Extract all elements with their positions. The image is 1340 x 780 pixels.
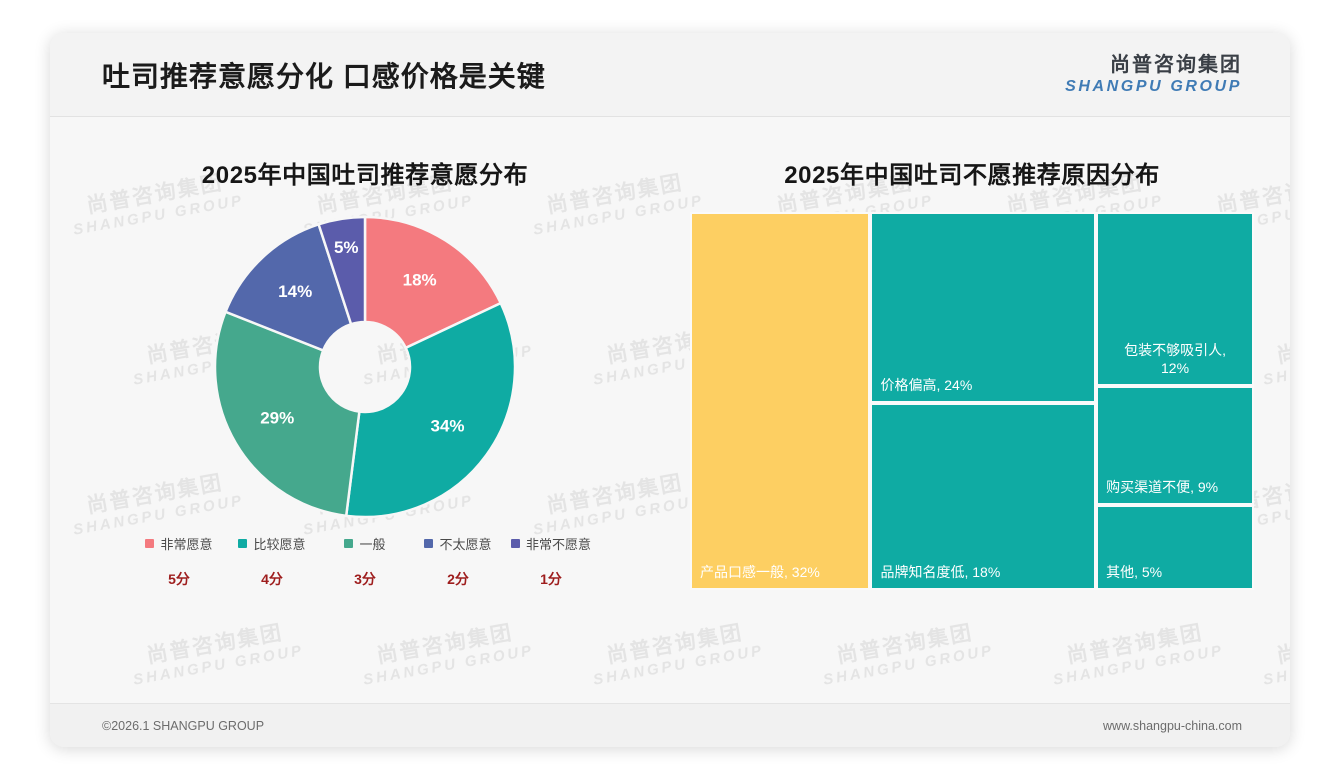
- donut-slice-label: 34%: [431, 416, 465, 435]
- donut-slice-label: 5%: [334, 238, 359, 257]
- treemap-tile-品牌知名度低[interactable]: 品牌知名度低, 18%: [870, 403, 1096, 590]
- donut-legend: 非常愿意比较愿意一般不太愿意非常不愿意: [80, 534, 650, 553]
- treemap-tile-label: 包装不够吸引人, 12%: [1106, 341, 1244, 377]
- treemap-tile-label: 购买渠道不便, 9%: [1106, 478, 1244, 496]
- legend-label: 比较愿意: [253, 534, 305, 553]
- slide-footer: ©2026.1 SHANGPU GROUP www.shangpu-china.…: [50, 703, 1290, 747]
- legend-swatch-icon: [424, 539, 433, 548]
- legend-label: 不太愿意: [439, 534, 491, 553]
- legend-label: 非常不愿意: [526, 534, 591, 553]
- slide-canvas: 尚普咨询集团SHANGPU GROUP尚普咨询集团SHANGPU GROUP尚普…: [0, 0, 1340, 780]
- treemap-tile-label: 品牌知名度低, 18%: [880, 563, 1086, 581]
- panel-reluctance-reasons: 2025年中国吐司不愿推荐原因分布 产品口感一般, 32%价格偏高, 24%品牌…: [670, 117, 1290, 663]
- slide-body: 2025年中国吐司推荐意愿分布 18%34%29%14%5% 非常愿意比较愿意一…: [50, 117, 1290, 663]
- donut-chart: 18%34%29%14%5%: [80, 202, 650, 532]
- score-label-1分: 1分: [505, 569, 598, 589]
- score-label-5分: 5分: [133, 569, 226, 589]
- donut-slice-label: 18%: [403, 270, 437, 289]
- slide: 尚普咨询集团SHANGPU GROUP尚普咨询集团SHANGPU GROUP尚普…: [50, 33, 1290, 747]
- logo-cn-text: 尚普咨询集团: [1065, 54, 1242, 76]
- treemap-tile-包装不够吸引人[interactable]: 包装不够吸引人, 12%: [1096, 212, 1254, 386]
- treemap-chart: 产品口感一般, 32%价格偏高, 24%品牌知名度低, 18%包装不够吸引人, …: [690, 212, 1254, 590]
- treemap-tile-label: 产品口感一般, 32%: [700, 563, 860, 581]
- treemap-tile-label: 价格偏高, 24%: [880, 376, 1086, 394]
- left-chart-title: 2025年中国吐司推荐意愿分布: [80, 155, 650, 190]
- treemap-tile-其他[interactable]: 其他, 5%: [1096, 505, 1254, 590]
- legend-swatch-icon: [344, 539, 353, 548]
- treemap-tile-购买渠道不便[interactable]: 购买渠道不便, 9%: [1096, 386, 1254, 505]
- donut-score-row: 5分4分3分2分1分: [80, 569, 650, 589]
- legend-item-非常愿意[interactable]: 非常愿意: [133, 534, 226, 553]
- score-label-4分: 4分: [226, 569, 319, 589]
- donut-slice-label: 29%: [260, 408, 294, 427]
- page-title: 吐司推荐意愿分化 口感价格是关键: [102, 55, 546, 95]
- legend-label: 非常愿意: [160, 534, 212, 553]
- treemap-tile-产品口感一般[interactable]: 产品口感一般, 32%: [690, 212, 870, 590]
- donut-slice-label: 14%: [278, 282, 312, 301]
- brand-logo: 尚普咨询集团 SHANGPU GROUP: [1065, 54, 1242, 96]
- treemap-tile-label: 其他, 5%: [1106, 563, 1244, 581]
- footer-website[interactable]: www.shangpu-china.com: [1103, 719, 1242, 733]
- score-label-2分: 2分: [412, 569, 505, 589]
- legend-item-一般[interactable]: 一般: [319, 534, 412, 553]
- legend-label: 一般: [359, 534, 385, 553]
- legend-item-不太愿意[interactable]: 不太愿意: [412, 534, 505, 553]
- treemap-tile-价格偏高[interactable]: 价格偏高, 24%: [870, 212, 1096, 403]
- right-chart-title: 2025年中国吐司不愿推荐原因分布: [690, 155, 1254, 190]
- treemap-tiles: 产品口感一般, 32%价格偏高, 24%品牌知名度低, 18%包装不够吸引人, …: [690, 212, 1254, 590]
- legend-swatch-icon: [145, 539, 154, 548]
- legend-swatch-icon: [238, 539, 247, 548]
- slide-header: 吐司推荐意愿分化 口感价格是关键 尚普咨询集团 SHANGPU GROUP: [50, 33, 1290, 117]
- donut-slice-比较愿意[interactable]: [346, 303, 515, 517]
- donut-chart-svg: 18%34%29%14%5%: [195, 202, 535, 532]
- score-label-3分: 3分: [319, 569, 412, 589]
- legend-item-比较愿意[interactable]: 比较愿意: [226, 534, 319, 553]
- panel-recommendation-willingness: 2025年中国吐司推荐意愿分布 18%34%29%14%5% 非常愿意比较愿意一…: [50, 117, 670, 663]
- legend-item-非常不愿意[interactable]: 非常不愿意: [505, 534, 598, 553]
- footer-copyright: ©2026.1 SHANGPU GROUP: [102, 719, 264, 733]
- logo-en-text: SHANGPU GROUP: [1065, 78, 1242, 96]
- legend-swatch-icon: [511, 539, 520, 548]
